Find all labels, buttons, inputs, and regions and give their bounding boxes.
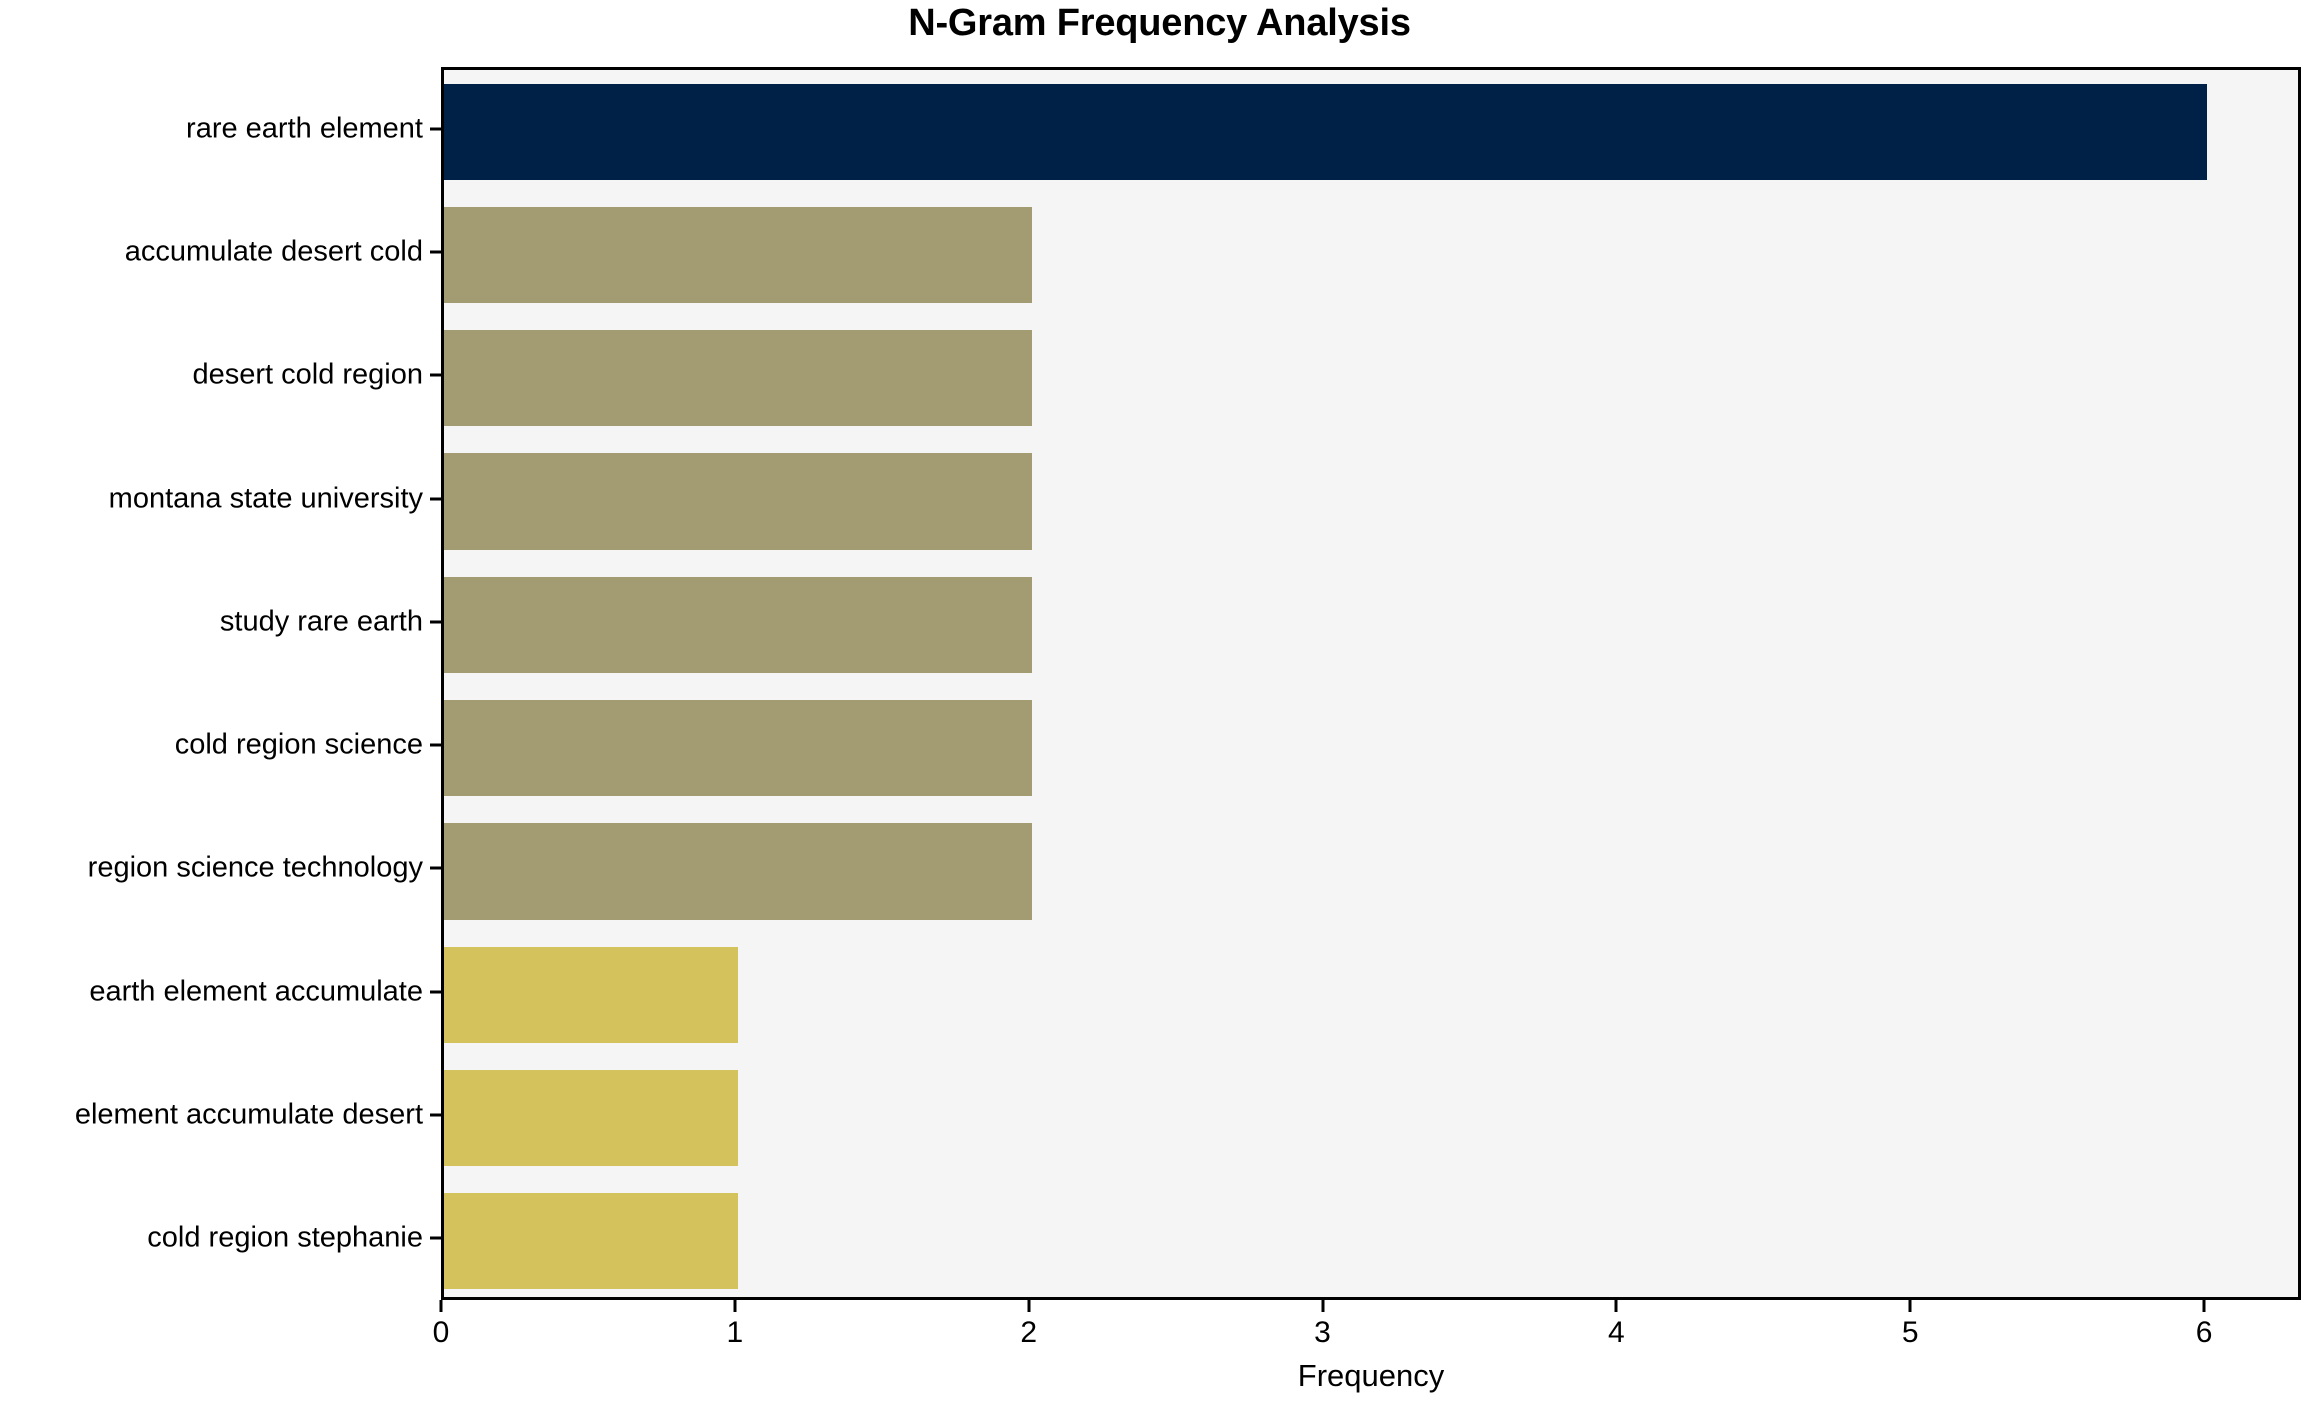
y-tick-mark bbox=[430, 250, 441, 253]
y-tick-label: earth element accumulate bbox=[89, 975, 423, 1008]
y-tick-label: study rare earth bbox=[220, 605, 423, 638]
y-tick-label: rare earth element bbox=[186, 112, 423, 145]
y-tick-mark bbox=[430, 990, 441, 993]
y-tick-label: element accumulate desert bbox=[75, 1099, 423, 1132]
y-axis: rare earth elementaccumulate desert cold… bbox=[0, 67, 441, 1300]
y-tick-mark bbox=[430, 497, 441, 500]
x-axis-label: Frequency bbox=[441, 1358, 2301, 1394]
x-tick-mark bbox=[1027, 1300, 1030, 1312]
x-tick-mark bbox=[1321, 1300, 1324, 1312]
chart-figure: N-Gram Frequency Analysis rare earth ele… bbox=[0, 0, 2319, 1414]
y-tick-label: cold region stephanie bbox=[147, 1222, 423, 1255]
x-tick-mark bbox=[440, 1300, 443, 1312]
y-tick-mark bbox=[430, 620, 441, 623]
y-tick-mark bbox=[430, 744, 441, 747]
x-tick-label: 4 bbox=[1608, 1316, 1625, 1350]
y-tick-mark bbox=[430, 1114, 441, 1117]
x-tick-mark bbox=[2203, 1300, 2206, 1312]
x-tick-mark bbox=[1615, 1300, 1618, 1312]
chart-title: N-Gram Frequency Analysis bbox=[0, 2, 2319, 45]
y-tick-mark bbox=[430, 1237, 441, 1240]
x-tick-label: 2 bbox=[1020, 1316, 1037, 1350]
y-tick-label: desert cold region bbox=[192, 359, 423, 392]
bar bbox=[444, 1193, 738, 1289]
bar bbox=[444, 823, 1032, 919]
x-tick-label: 6 bbox=[2196, 1316, 2213, 1350]
y-tick-mark bbox=[430, 867, 441, 870]
x-tick-label: 0 bbox=[433, 1316, 450, 1350]
bar bbox=[444, 84, 2207, 180]
plot-area bbox=[441, 67, 2301, 1300]
x-tick-label: 5 bbox=[1902, 1316, 1919, 1350]
bars-layer bbox=[444, 70, 2298, 1297]
y-tick-mark bbox=[430, 374, 441, 377]
bar bbox=[444, 577, 1032, 673]
y-tick-label: accumulate desert cold bbox=[125, 235, 423, 268]
bar bbox=[444, 330, 1032, 426]
bar bbox=[444, 700, 1032, 796]
x-tick-mark bbox=[1909, 1300, 1912, 1312]
y-tick-label: montana state university bbox=[109, 482, 423, 515]
y-tick-label: region science technology bbox=[88, 852, 423, 885]
x-axis: 0123456 bbox=[441, 1300, 2301, 1360]
x-tick-label: 1 bbox=[726, 1316, 743, 1350]
x-tick-label: 3 bbox=[1314, 1316, 1331, 1350]
y-tick-label: cold region science bbox=[175, 729, 423, 762]
bar bbox=[444, 453, 1032, 549]
bar bbox=[444, 1070, 738, 1166]
bar bbox=[444, 207, 1032, 303]
x-tick-mark bbox=[733, 1300, 736, 1312]
bar bbox=[444, 947, 738, 1043]
y-tick-mark bbox=[430, 127, 441, 130]
